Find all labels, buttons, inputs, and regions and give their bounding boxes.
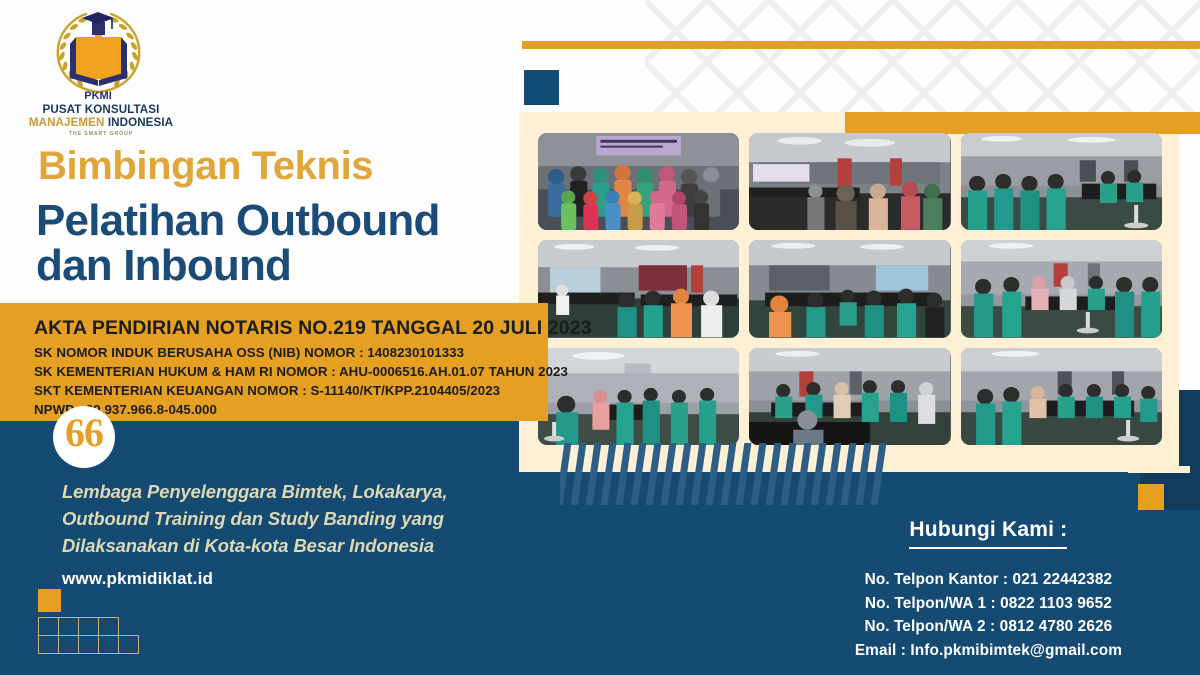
gallery-photo [961,348,1162,445]
stripe [870,443,887,505]
page-title-line2: dan Inbound [36,243,440,288]
brand-tagline-small: THE SMART GROUP [16,131,186,137]
contact-section: Hubungi Kami : No. Telpon Kantor : 021 2… [855,518,1122,662]
legal-line: SK KEMENTERIAN HUKUM & HAM RI NOMOR : AH… [34,362,548,381]
stripe [615,443,632,505]
stripe [810,443,827,505]
brand-logo: PKMI PUSAT KONSULTASI MANAJEMEN INDONESI… [16,4,186,134]
navy-square-decoration [524,70,559,105]
stripe [560,443,572,505]
stripe [660,443,677,505]
legal-line: SK NOMOR INDUK BERUSAHA OSS (NIB) NOMOR … [34,343,548,362]
stripe [750,443,767,505]
stripe [720,443,737,505]
brand-name-indonesia: INDONESIA [108,116,173,129]
stripe [855,443,872,505]
stripe [585,443,602,505]
gallery-photo [749,348,950,445]
stripe [675,443,692,505]
stripe [735,443,752,505]
svg-text:PKMI: PKMI [84,90,112,102]
gallery-photo [961,240,1162,337]
stripe [780,443,797,505]
photo-grid [538,133,1162,445]
brand-name-manajemen: MANAJEMEN [29,116,105,129]
stripe [840,443,857,505]
contact-phone-office[interactable]: No. Telpon Kantor : 021 22442382 [855,568,1122,592]
stripe [630,443,647,505]
contact-whatsapp-1[interactable]: No. Telpon/WA 1 : 0822 1103 9652 [855,592,1122,616]
gallery-photo [538,133,739,230]
quote-mark-badge: 66 [53,406,115,468]
quote-mark-icon: 66 [65,413,103,453]
stripe [765,443,782,505]
contact-whatsapp-2[interactable]: No. Telpon/WA 2 : 0812 4780 2626 [855,615,1122,639]
gallery-photo [961,133,1162,230]
orange-rule-top [522,41,1200,49]
graduation-book-laurel-icon: PKMI [46,4,151,102]
stripe [645,443,662,505]
stripe [825,443,842,505]
slanted-stripes-decoration [560,443,890,505]
legal-title: AKTA PENDIRIAN NOTARIS NO.219 TANGGAL 20… [34,317,548,340]
page-title: Pelatihan Outbound dan Inbound [36,198,440,289]
contact-email[interactable]: Email : Info.pkmibimtek@gmail.com [855,639,1122,663]
gallery-photo [749,240,950,337]
orange-square-decoration [38,589,61,612]
website-url[interactable]: www.pkmidiklat.id [62,569,213,589]
brand-name-line1: PUSAT KONSULTASI [16,103,186,116]
gallery-photo [538,348,739,445]
eyebrow-heading: Bimbingan Teknis [38,144,373,189]
stripe [705,443,722,505]
grid-squares-decoration [38,617,139,654]
stripe [690,443,707,505]
brand-name-line2: MANAJEMEN INDONESIA [16,116,186,129]
stripe [570,443,587,505]
orange-tab-decoration [845,112,1200,134]
legal-line: SKT KEMENTERIAN KEUANGAN NOMOR : S-11140… [34,381,548,400]
contact-heading: Hubungi Kami : [909,518,1067,549]
orange-square-right-decoration [1138,484,1164,510]
contact-list: No. Telpon Kantor : 021 22442382 No. Tel… [855,568,1122,662]
legal-info-list: AKTA PENDIRIAN NOTARIS NO.219 TANGGAL 20… [0,303,548,420]
stripe [600,443,617,505]
stripe [795,443,812,505]
gallery-photo [749,133,950,230]
legal-info-band: AKTA PENDIRIAN NOTARIS NO.219 TANGGAL 20… [0,303,548,421]
cream-bar-decoration [1128,466,1190,473]
tagline-text: Lembaga Penyelenggara Bimtek, Lokakarya,… [62,478,502,560]
poster-canvas: PKMI PUSAT KONSULTASI MANAJEMEN INDONESI… [0,0,1200,675]
legal-line: NPWP : 39.937.966.8-045.000 [34,400,548,419]
brand-name: PUSAT KONSULTASI MANAJEMEN INDONESIA THE… [16,103,186,137]
page-title-line1: Pelatihan Outbound [36,198,440,243]
